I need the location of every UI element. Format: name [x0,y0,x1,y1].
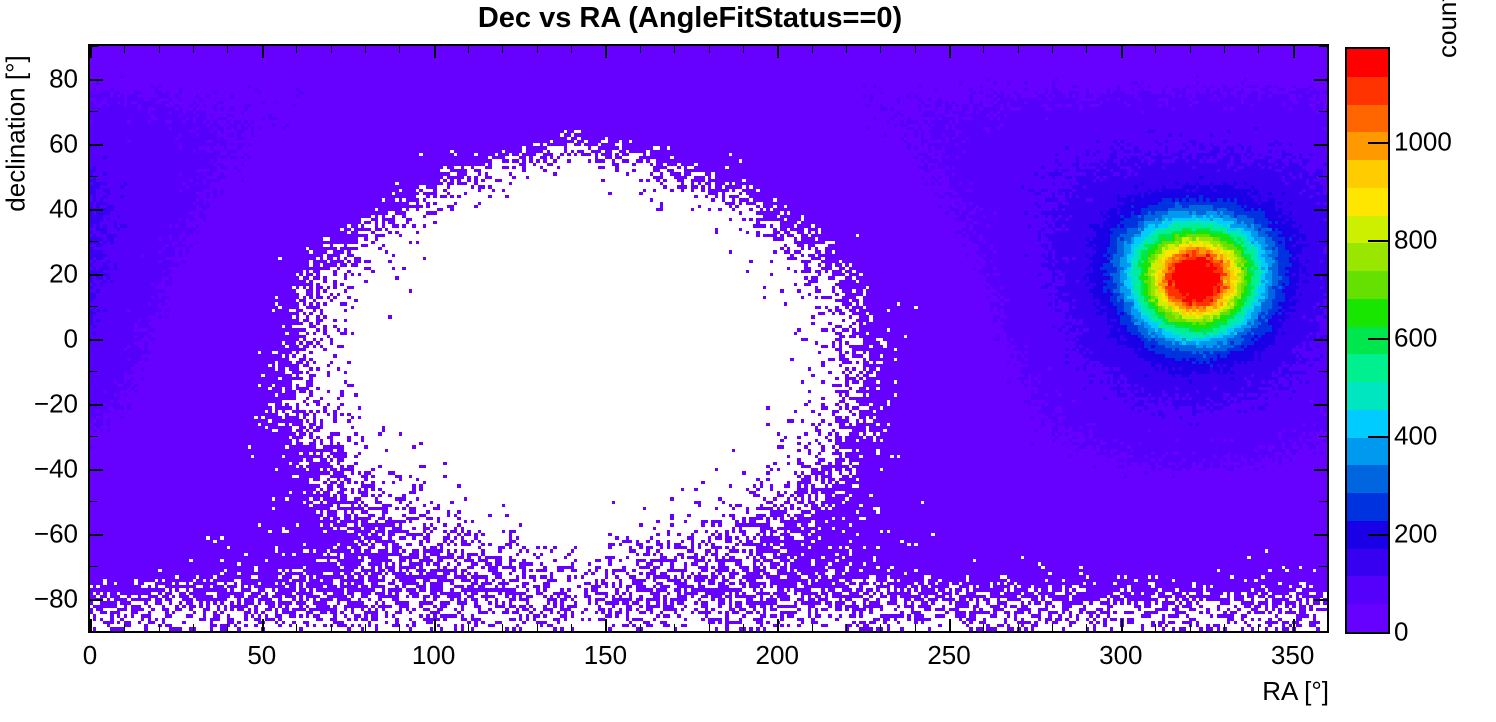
x-axis-major-tick [949,619,951,631]
color-scale-bar [1345,47,1390,634]
x-axis-minor-tick-top [983,46,984,53]
color-scale-band [1347,327,1388,355]
x-axis-major-tick [1293,619,1295,631]
x-axis-minor-tick [1190,624,1191,631]
y-axis-major-tick-right [1314,144,1327,146]
x-axis-minor-tick [227,624,228,631]
y-axis-minor-tick [90,111,98,112]
x-axis-minor-tick [159,624,160,631]
color-scale-band [1347,105,1388,133]
y-axis-major-tick-right [1314,274,1327,276]
x-axis-minor-tick [1327,624,1328,631]
y-axis-major-tick-right [1314,599,1327,601]
x-axis-minor-tick-top [193,46,194,53]
y-axis-tick-label: −80 [34,583,78,614]
y-axis-minor-tick-right [1319,566,1327,567]
x-axis-minor-tick-top [1258,46,1259,53]
x-axis-minor-tick-top [812,46,813,53]
x-axis-minor-tick [812,624,813,631]
y-axis-major-tick [90,79,103,81]
x-axis-minor-tick [468,624,469,631]
x-axis-major-tick [262,619,264,631]
color-scale-band [1347,132,1388,160]
color-scale-band [1347,49,1388,77]
x-axis-minor-tick [124,624,125,631]
x-axis-minor-tick [640,624,641,631]
x-axis-major-tick-top [90,46,92,58]
x-axis-minor-tick [537,624,538,631]
y-axis-minor-tick-right [1319,111,1327,112]
x-axis-minor-tick-top [1155,46,1156,53]
x-axis-major-tick-top [262,46,264,58]
color-scale-tick [1368,240,1390,242]
color-scale-title: count [1432,0,1463,58]
color-scale-band [1347,465,1388,493]
y-axis-tick-label: 0 [64,323,78,354]
x-axis-minor-tick-top [365,46,366,53]
y-axis-major-tick-right [1314,79,1327,81]
histogram-2d-image [90,46,1327,631]
x-axis-minor-tick [1155,624,1156,631]
x-axis-tick-label: 150 [584,640,627,671]
color-scale-band [1347,438,1388,466]
x-axis-minor-tick [1018,624,1019,631]
y-axis-minor-tick [90,176,98,177]
y-axis-major-tick-right [1314,469,1327,471]
color-scale-band [1347,382,1388,410]
y-axis-major-tick-right [1314,534,1327,536]
y-axis-minor-tick-right [1319,436,1327,437]
x-axis-minor-tick [399,624,400,631]
x-axis-minor-tick-top [571,46,572,53]
x-axis-major-tick-top [949,46,951,58]
color-scale-band [1347,271,1388,299]
x-axis-major-tick-top [1293,46,1295,58]
y-axis-major-tick [90,339,103,341]
x-axis-major-tick-top [605,46,607,58]
y-axis-minor-tick [90,46,98,47]
color-scale-band [1347,299,1388,327]
x-axis-tick-label: 50 [247,640,276,671]
y-axis-major-tick [90,274,103,276]
x-axis-minor-tick-top [296,46,297,53]
color-scale-band [1347,576,1388,604]
x-axis-minor-tick-top [468,46,469,53]
y-axis-minor-tick [90,631,98,632]
y-axis-tick-label: 60 [49,128,78,159]
color-scale-band [1347,188,1388,216]
color-scale-tick [1368,632,1390,634]
y-axis-major-tick-right [1314,209,1327,211]
y-axis-tick-label: 80 [49,63,78,94]
x-axis-minor-tick-top [674,46,675,53]
y-axis-tick-label: 20 [49,258,78,289]
color-scale-band [1347,410,1388,438]
x-axis-minor-tick-top [1086,46,1087,53]
x-axis-minor-tick [193,624,194,631]
y-axis-minor-tick [90,241,98,242]
color-scale-tick-label: 400 [1394,421,1437,452]
x-axis-major-tick-top [777,46,779,58]
x-axis-tick-label: 200 [756,640,799,671]
color-scale-band [1347,354,1388,382]
color-scale-band [1347,604,1388,632]
x-axis-minor-tick [1258,624,1259,631]
x-axis-tick-label: 250 [927,640,970,671]
x-axis-major-tick [605,619,607,631]
x-axis-minor-tick-top [640,46,641,53]
x-axis-major-tick-top [1121,46,1123,58]
y-axis-major-tick-right [1314,404,1327,406]
color-scale-tick [1368,534,1390,536]
x-axis-minor-tick [674,624,675,631]
x-axis-minor-tick-top [502,46,503,53]
y-axis-tick-label: 40 [49,193,78,224]
y-axis-major-tick [90,209,103,211]
x-axis-minor-tick-top [399,46,400,53]
color-scale-band [1347,493,1388,521]
color-scale-band [1347,243,1388,271]
x-axis-minor-tick [571,624,572,631]
y-axis-minor-tick-right [1319,176,1327,177]
x-axis-minor-tick [502,624,503,631]
x-axis-minor-tick [1086,624,1087,631]
x-axis-major-tick-top [434,46,436,58]
color-scale-tick-label: 200 [1394,519,1437,550]
y-axis-title: declination [°] [1,55,32,211]
x-axis-minor-tick-top [846,46,847,53]
x-axis-tick-label: 300 [1099,640,1142,671]
y-axis-minor-tick-right [1319,371,1327,372]
y-axis-minor-tick-right [1319,501,1327,502]
y-axis-minor-tick [90,566,98,567]
x-axis-major-tick [1121,619,1123,631]
x-axis-minor-tick-top [1190,46,1191,53]
color-scale-tick [1368,142,1390,144]
color-scale-tick-label: 600 [1394,323,1437,354]
x-axis-tick-label: 100 [412,640,455,671]
x-axis-major-tick [90,619,92,631]
color-scale-tick-label: 800 [1394,225,1437,256]
x-axis-minor-tick [331,624,332,631]
x-axis-minor-tick-top [124,46,125,53]
color-scale-tick [1368,338,1390,340]
root-plot-canvas: Dec vs RA (AngleFitStatus==0) 0501001502… [0,0,1496,722]
x-axis-minor-tick [1224,624,1225,631]
y-axis-minor-tick-right [1319,46,1327,47]
y-axis-minor-tick [90,436,98,437]
x-axis-minor-tick-top [331,46,332,53]
y-axis-minor-tick [90,501,98,502]
x-axis-major-tick [434,619,436,631]
x-axis-tick-label: 0 [83,640,97,671]
y-axis-major-tick [90,534,103,536]
x-axis-minor-tick-top [1224,46,1225,53]
x-axis-minor-tick [1052,624,1053,631]
y-axis-major-tick [90,469,103,471]
plot-frame [88,44,1329,633]
color-scale-band [1347,77,1388,105]
x-axis-minor-tick-top [1018,46,1019,53]
x-axis-title: RA [°] [1262,676,1329,707]
y-axis-major-tick [90,404,103,406]
x-axis-minor-tick-top [537,46,538,53]
y-axis-minor-tick [90,306,98,307]
y-axis-minor-tick-right [1319,631,1327,632]
x-axis-minor-tick-top [709,46,710,53]
x-axis-minor-tick [915,624,916,631]
color-scale-tick-label: 0 [1394,617,1408,648]
y-axis-tick-label: −60 [34,518,78,549]
y-axis-tick-label: −40 [34,453,78,484]
y-axis-tick-label: −20 [34,388,78,419]
x-axis-major-tick [777,619,779,631]
x-axis-minor-tick-top [915,46,916,53]
x-axis-minor-tick [880,624,881,631]
y-axis-major-tick-right [1314,339,1327,341]
y-axis-major-tick [90,599,103,601]
page-title: Dec vs RA (AngleFitStatus==0) [0,2,1380,35]
x-axis-minor-tick [846,624,847,631]
x-axis-minor-tick [365,624,366,631]
x-axis-minor-tick-top [227,46,228,53]
x-axis-minor-tick-top [1052,46,1053,53]
x-axis-minor-tick [709,624,710,631]
x-axis-minor-tick-top [880,46,881,53]
color-scale-band [1347,160,1388,188]
y-axis-minor-tick-right [1319,306,1327,307]
x-axis-minor-tick [743,624,744,631]
y-axis-major-tick [90,144,103,146]
color-scale-tick-label: 1000 [1394,127,1452,158]
x-axis-minor-tick [983,624,984,631]
color-scale-tick [1368,436,1390,438]
color-scale-band [1347,549,1388,577]
x-axis-minor-tick [296,624,297,631]
y-axis-minor-tick [90,371,98,372]
x-axis-minor-tick-top [1327,46,1328,53]
x-axis-tick-label: 350 [1271,640,1314,671]
x-axis-minor-tick-top [159,46,160,53]
y-axis-minor-tick-right [1319,241,1327,242]
x-axis-minor-tick-top [743,46,744,53]
